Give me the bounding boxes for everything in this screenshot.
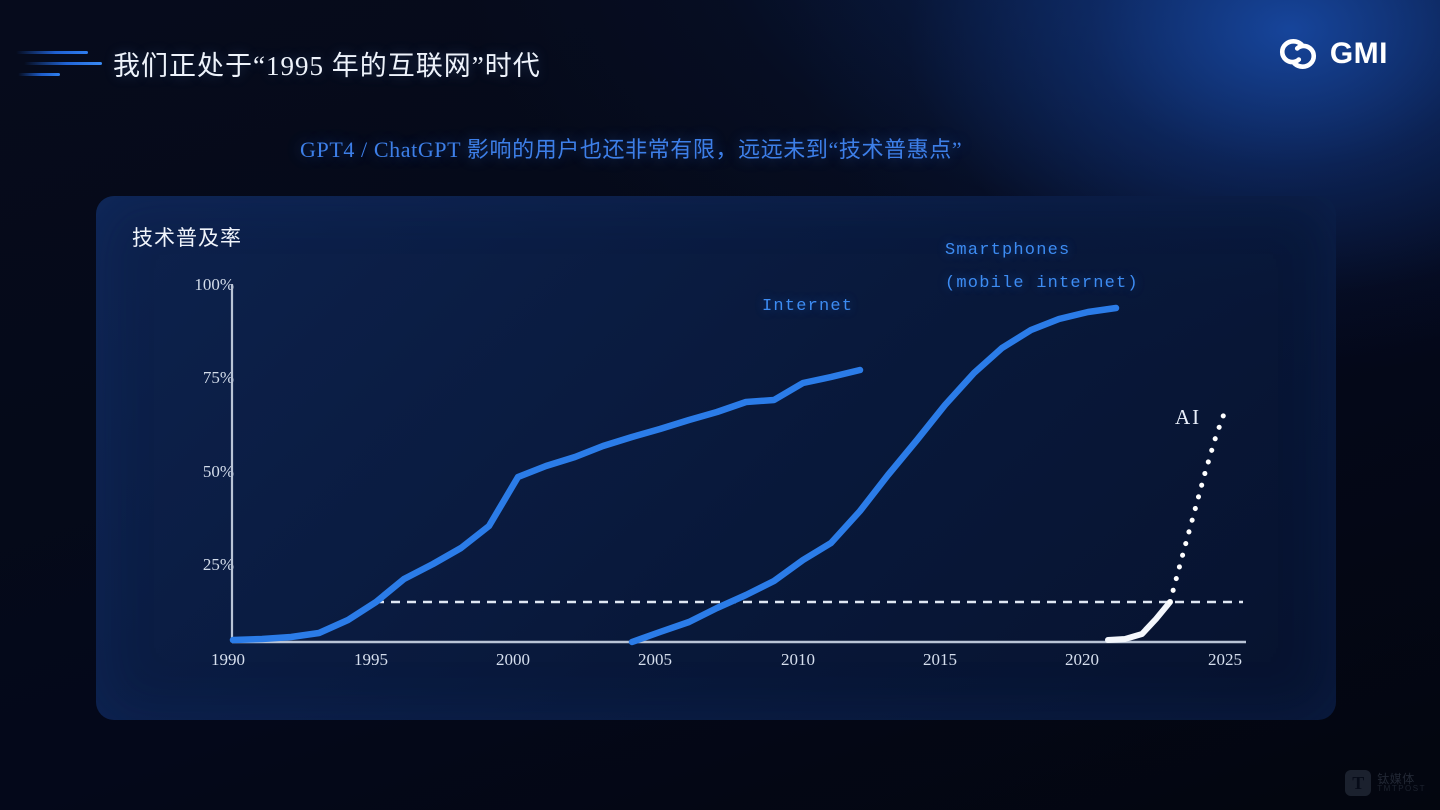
title-accent-lines <box>8 45 118 85</box>
brand-name: GMI <box>1330 37 1388 71</box>
page-title: 我们正处于“1995 年的互联网”时代 <box>113 44 541 83</box>
series-line-ai-solid <box>1108 602 1170 640</box>
watermark: T 钛媒体 TMTPOST <box>1345 770 1426 796</box>
accent-line-3 <box>18 73 60 76</box>
brand-logo: GMI <box>1276 36 1388 72</box>
watermark-en: TMTPOST <box>1377 785 1426 793</box>
series-line-smartphones <box>632 308 1116 642</box>
watermark-badge: T <box>1345 770 1371 796</box>
watermark-texts: 钛媒体 TMTPOST <box>1377 773 1426 794</box>
series-line-internet <box>233 370 860 640</box>
series-line-ai-projection <box>1170 411 1225 602</box>
accent-line-1 <box>16 51 88 54</box>
chart-plot <box>96 196 1336 720</box>
infinity-cloud-icon <box>1276 36 1320 72</box>
chart-card: 技术普及率 100% 75% 50% 25% 1990 1995 2000 20… <box>96 196 1336 720</box>
page-subtitle: GPT4 / ChatGPT 影响的用户也还非常有限，远远未到“技术普惠点” <box>300 132 962 164</box>
accent-line-2 <box>24 62 102 65</box>
slide-root: 我们正处于“1995 年的互联网”时代 GPT4 / ChatGPT 影响的用户… <box>0 0 1440 810</box>
